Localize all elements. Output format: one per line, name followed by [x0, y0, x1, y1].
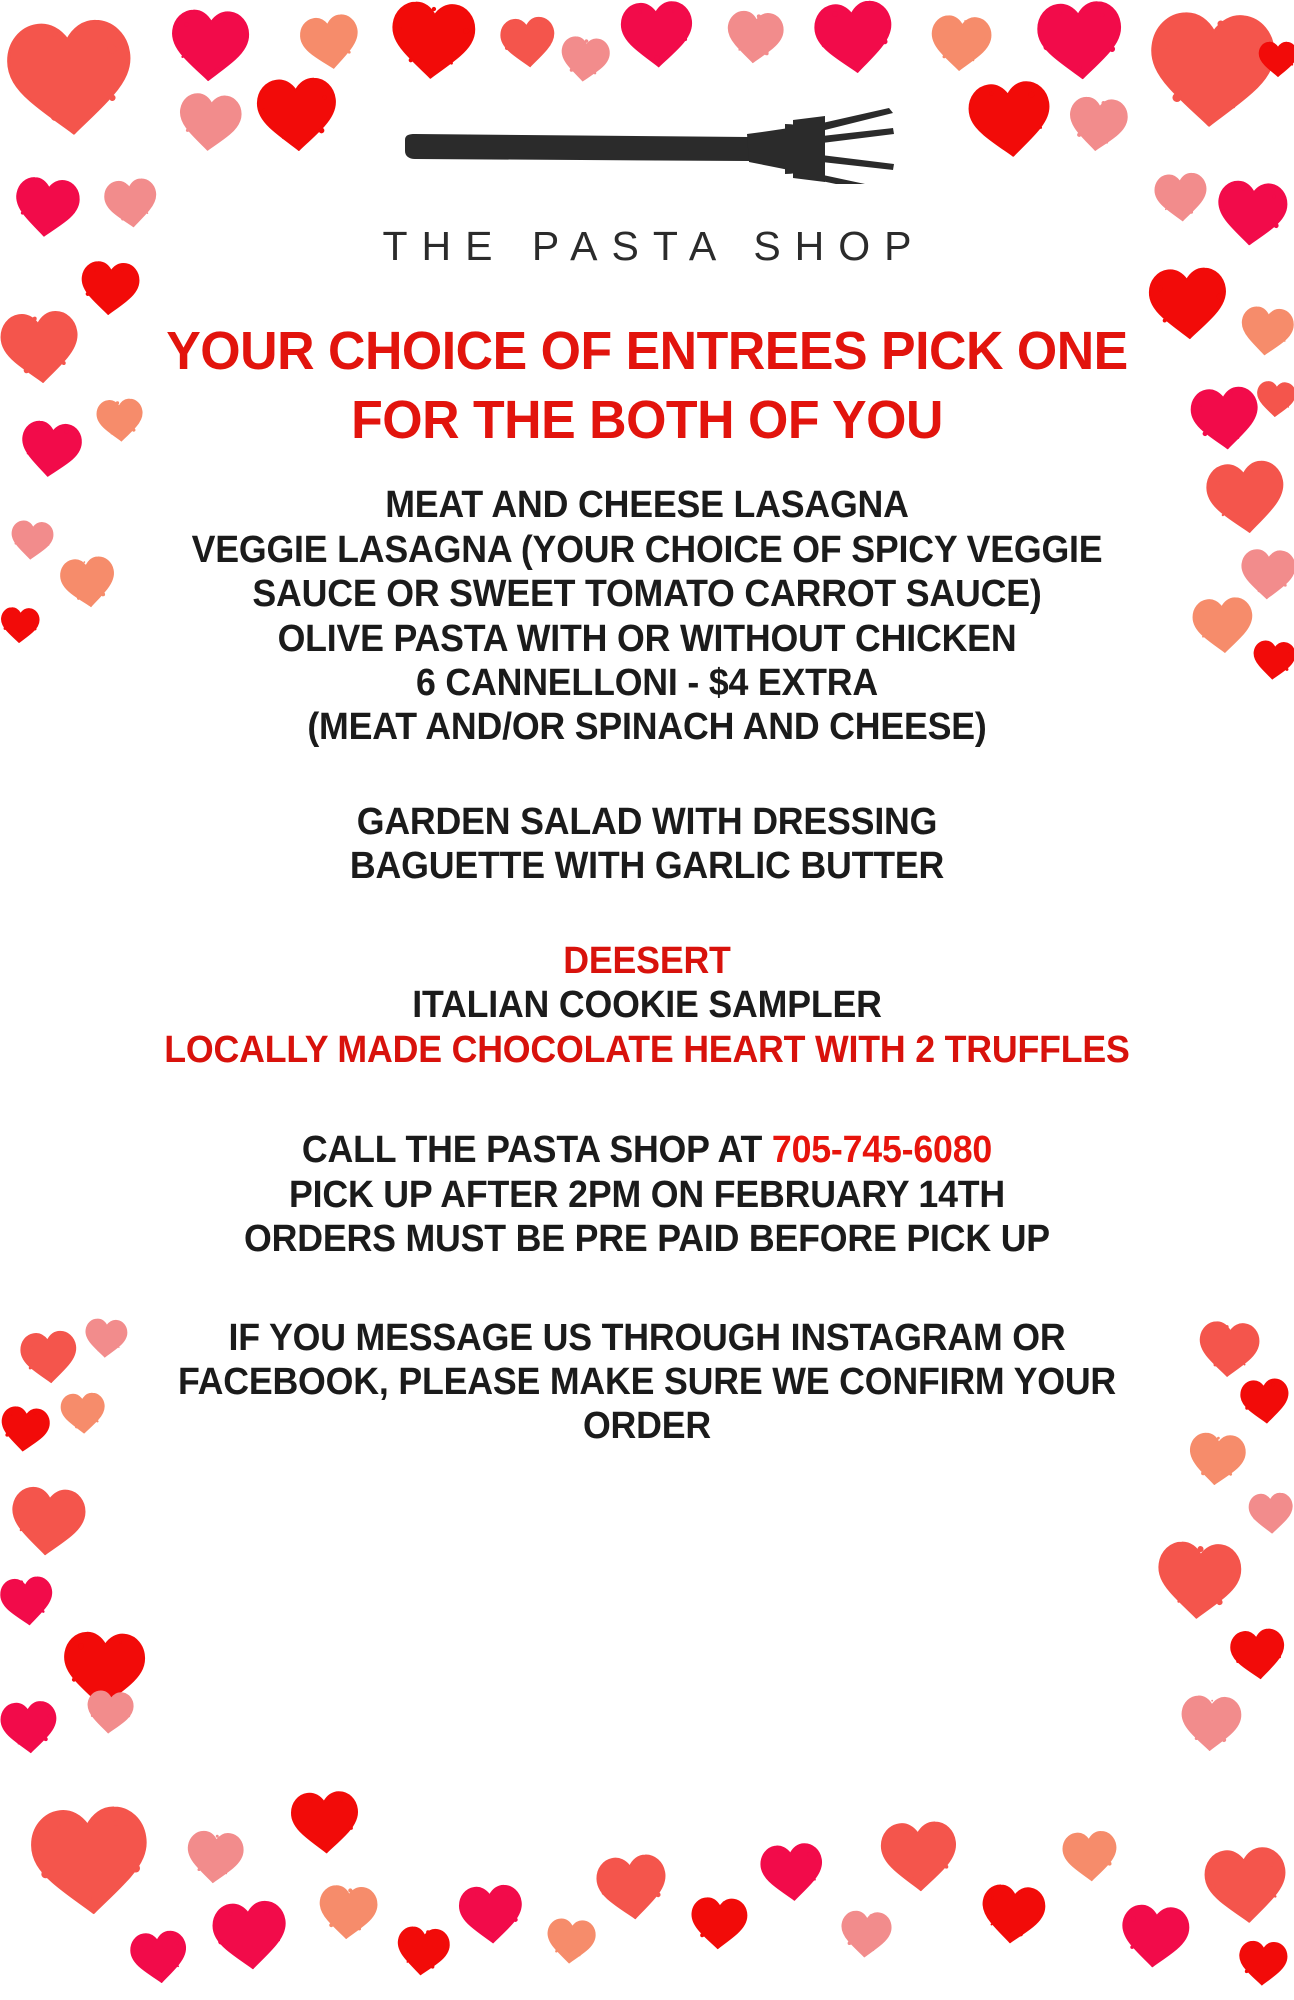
heart-icon	[0, 1573, 56, 1628]
brand-name: THE PASTA SHOP	[0, 226, 1294, 267]
heart-icon	[758, 1839, 827, 1904]
valentine-menu-flyer: THE PASTA SHOP YOUR CHOICE OF ENTREES PI…	[0, 0, 1294, 2000]
heart-icon	[838, 1908, 893, 1960]
dessert-item-cookies: ITALIAN COOKIE SAMPLER	[123, 983, 1170, 1027]
heart-icon	[1179, 1692, 1244, 1753]
entree-item: VEGGIE LASAGNA (YOUR CHOICE OF SPICY VEG…	[123, 528, 1170, 572]
heart-icon	[544, 1916, 598, 1966]
heart-icon	[394, 1923, 453, 1978]
heart-icon	[1153, 1537, 1244, 1623]
headline-line-3: YOU	[832, 390, 943, 450]
heart-icon	[26, 1800, 154, 1920]
heart-icon	[84, 1688, 136, 1736]
heart-icon	[1201, 1842, 1291, 1927]
heart-icon	[316, 1882, 380, 1942]
heart-icon	[1117, 1901, 1192, 1971]
pickup-time: PICK UP AFTER 2PM ON FEBRUARY 14TH	[123, 1173, 1170, 1217]
entrees-list: MEAT AND CHEESE LASAGNA VEGGIE LASAGNA (…	[39, 483, 1255, 750]
heart-icon	[1247, 1491, 1294, 1535]
entree-item: OLIVE PASTA WITH OR WITHOUT CHICKEN	[123, 617, 1170, 661]
heart-icon	[127, 1927, 190, 1987]
dessert-heading: DEESERT	[123, 939, 1170, 983]
heart-icon	[1227, 1625, 1288, 1683]
sides-list: GARDEN SALAD WITH DRESSING BAGUETTE WITH…	[39, 800, 1255, 889]
heart-icon	[593, 1850, 672, 1923]
heart-icon	[1060, 1828, 1119, 1884]
prepaid-notice: ORDERS MUST BE PRE PAID BEFORE PICK UP	[123, 1217, 1170, 1261]
heart-icon	[456, 1882, 526, 1946]
headline-line-1: YOUR CHOICE OF ENTREES	[166, 321, 867, 381]
heart-icon	[288, 1788, 361, 1856]
entree-item: MEAT AND CHEESE LASAGNA	[123, 483, 1170, 527]
entree-item: 6 CANNELLONI - $4 EXTRA	[123, 661, 1170, 705]
entree-item: (MEAT AND/OR SPINACH AND CHEESE)	[123, 705, 1170, 749]
heart-icon	[878, 1818, 960, 1894]
brand-logo: THE PASTA SHOP	[0, 0, 1294, 267]
dessert-item-chocolate-heart: LOCALLY MADE CHOCOLATE HEART WITH 2 TRUF…	[123, 1028, 1170, 1072]
side-item: BAGUETTE WITH GARLIC BUTTER	[123, 844, 1170, 888]
heart-icon	[184, 1828, 246, 1887]
social-note-text: IF YOU MESSAGE US THROUGH INSTAGRAM OR F…	[161, 1316, 1133, 1449]
heart-icon	[7, 1483, 89, 1559]
side-item: GARDEN SALAD WITH DRESSING	[123, 800, 1170, 844]
heart-icon	[60, 1628, 148, 1710]
social-note: IF YOU MESSAGE US THROUGH INSTAGRAM OR F…	[39, 1316, 1255, 1449]
heart-icon	[689, 1895, 750, 1952]
heart-icon	[1237, 1939, 1289, 1988]
contact-section: CALL THE PASTA SHOP AT 705-745-6080 PICK…	[39, 1128, 1255, 1261]
entree-item: SAUCE OR SWEET TOMATO CARROT SAUCE)	[123, 572, 1170, 616]
phone-number[interactable]: 705-745-6080	[772, 1129, 992, 1171]
menu-content: THE PASTA SHOP YOUR CHOICE OF ENTREES PI…	[0, 0, 1294, 1449]
dessert-section: DEESERT ITALIAN COOKIE SAMPLER LOCALLY M…	[39, 939, 1255, 1072]
fork-icon	[397, 104, 897, 184]
heart-icon	[0, 1698, 60, 1756]
call-line: CALL THE PASTA SHOP AT 705-745-6080	[123, 1128, 1170, 1172]
heart-icon	[209, 1897, 291, 1973]
call-prefix: CALL THE PASTA SHOP AT	[302, 1129, 772, 1171]
page-title: YOUR CHOICE OF ENTREES PICK ONE FOR THE …	[26, 317, 1268, 455]
heart-icon	[977, 1881, 1049, 1948]
